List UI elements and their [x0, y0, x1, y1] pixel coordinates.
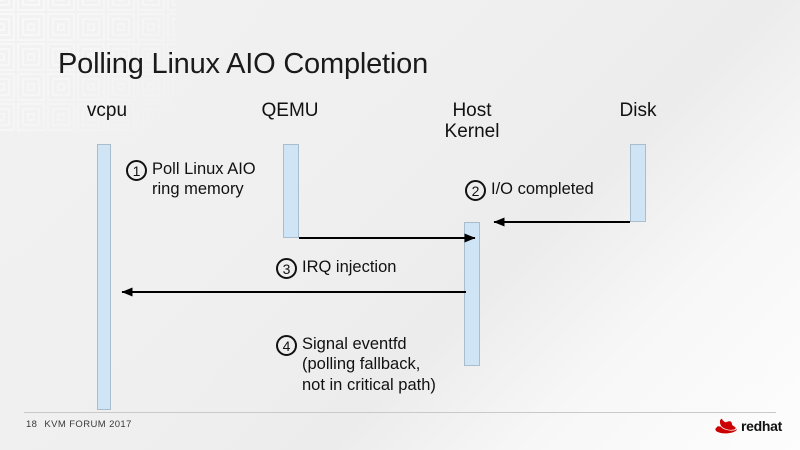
- slide-canvas: Polling Linux AIO Completion vcpu QEMU H…: [0, 0, 800, 450]
- step-1-number: 1: [126, 160, 147, 181]
- slide-number: 18: [26, 419, 37, 430]
- lifeline-vcpu: [97, 144, 111, 410]
- slide-title: Polling Linux AIO Completion: [58, 48, 428, 81]
- redhat-wordmark: redhat: [741, 418, 782, 434]
- step-2-number: 2: [465, 180, 486, 201]
- participant-label-host-kernel: Host Kernel: [422, 100, 522, 143]
- step-4: 4 Signal eventfd (polling fallback, not …: [276, 334, 491, 395]
- footer-divider: [24, 412, 776, 413]
- footer-event-name: KVM FORUM 2017: [44, 419, 131, 430]
- participant-label-vcpu: vcpu: [57, 100, 157, 121]
- redhat-fedora-icon: [714, 417, 738, 435]
- step-2: 2 I/O completed: [465, 179, 645, 201]
- step-2-text: I/O completed: [491, 179, 594, 199]
- step-3-text: IRQ injection: [302, 257, 396, 277]
- participant-label-disk: Disk: [588, 100, 688, 121]
- step-4-text: Signal eventfd (polling fallback, not in…: [302, 334, 436, 395]
- lifeline-qemu: [283, 144, 299, 238]
- step-1: 1 Poll Linux AIO ring memory: [126, 159, 271, 200]
- footer-text: 18KVM FORUM 2017: [26, 419, 132, 430]
- step-3-number: 3: [276, 258, 297, 279]
- step-4-number: 4: [276, 335, 297, 356]
- redhat-logo: redhat: [714, 417, 782, 435]
- step-3: 3 IRQ injection: [276, 257, 456, 279]
- participant-label-qemu: QEMU: [240, 100, 340, 121]
- step-1-text: Poll Linux AIO ring memory: [152, 159, 256, 200]
